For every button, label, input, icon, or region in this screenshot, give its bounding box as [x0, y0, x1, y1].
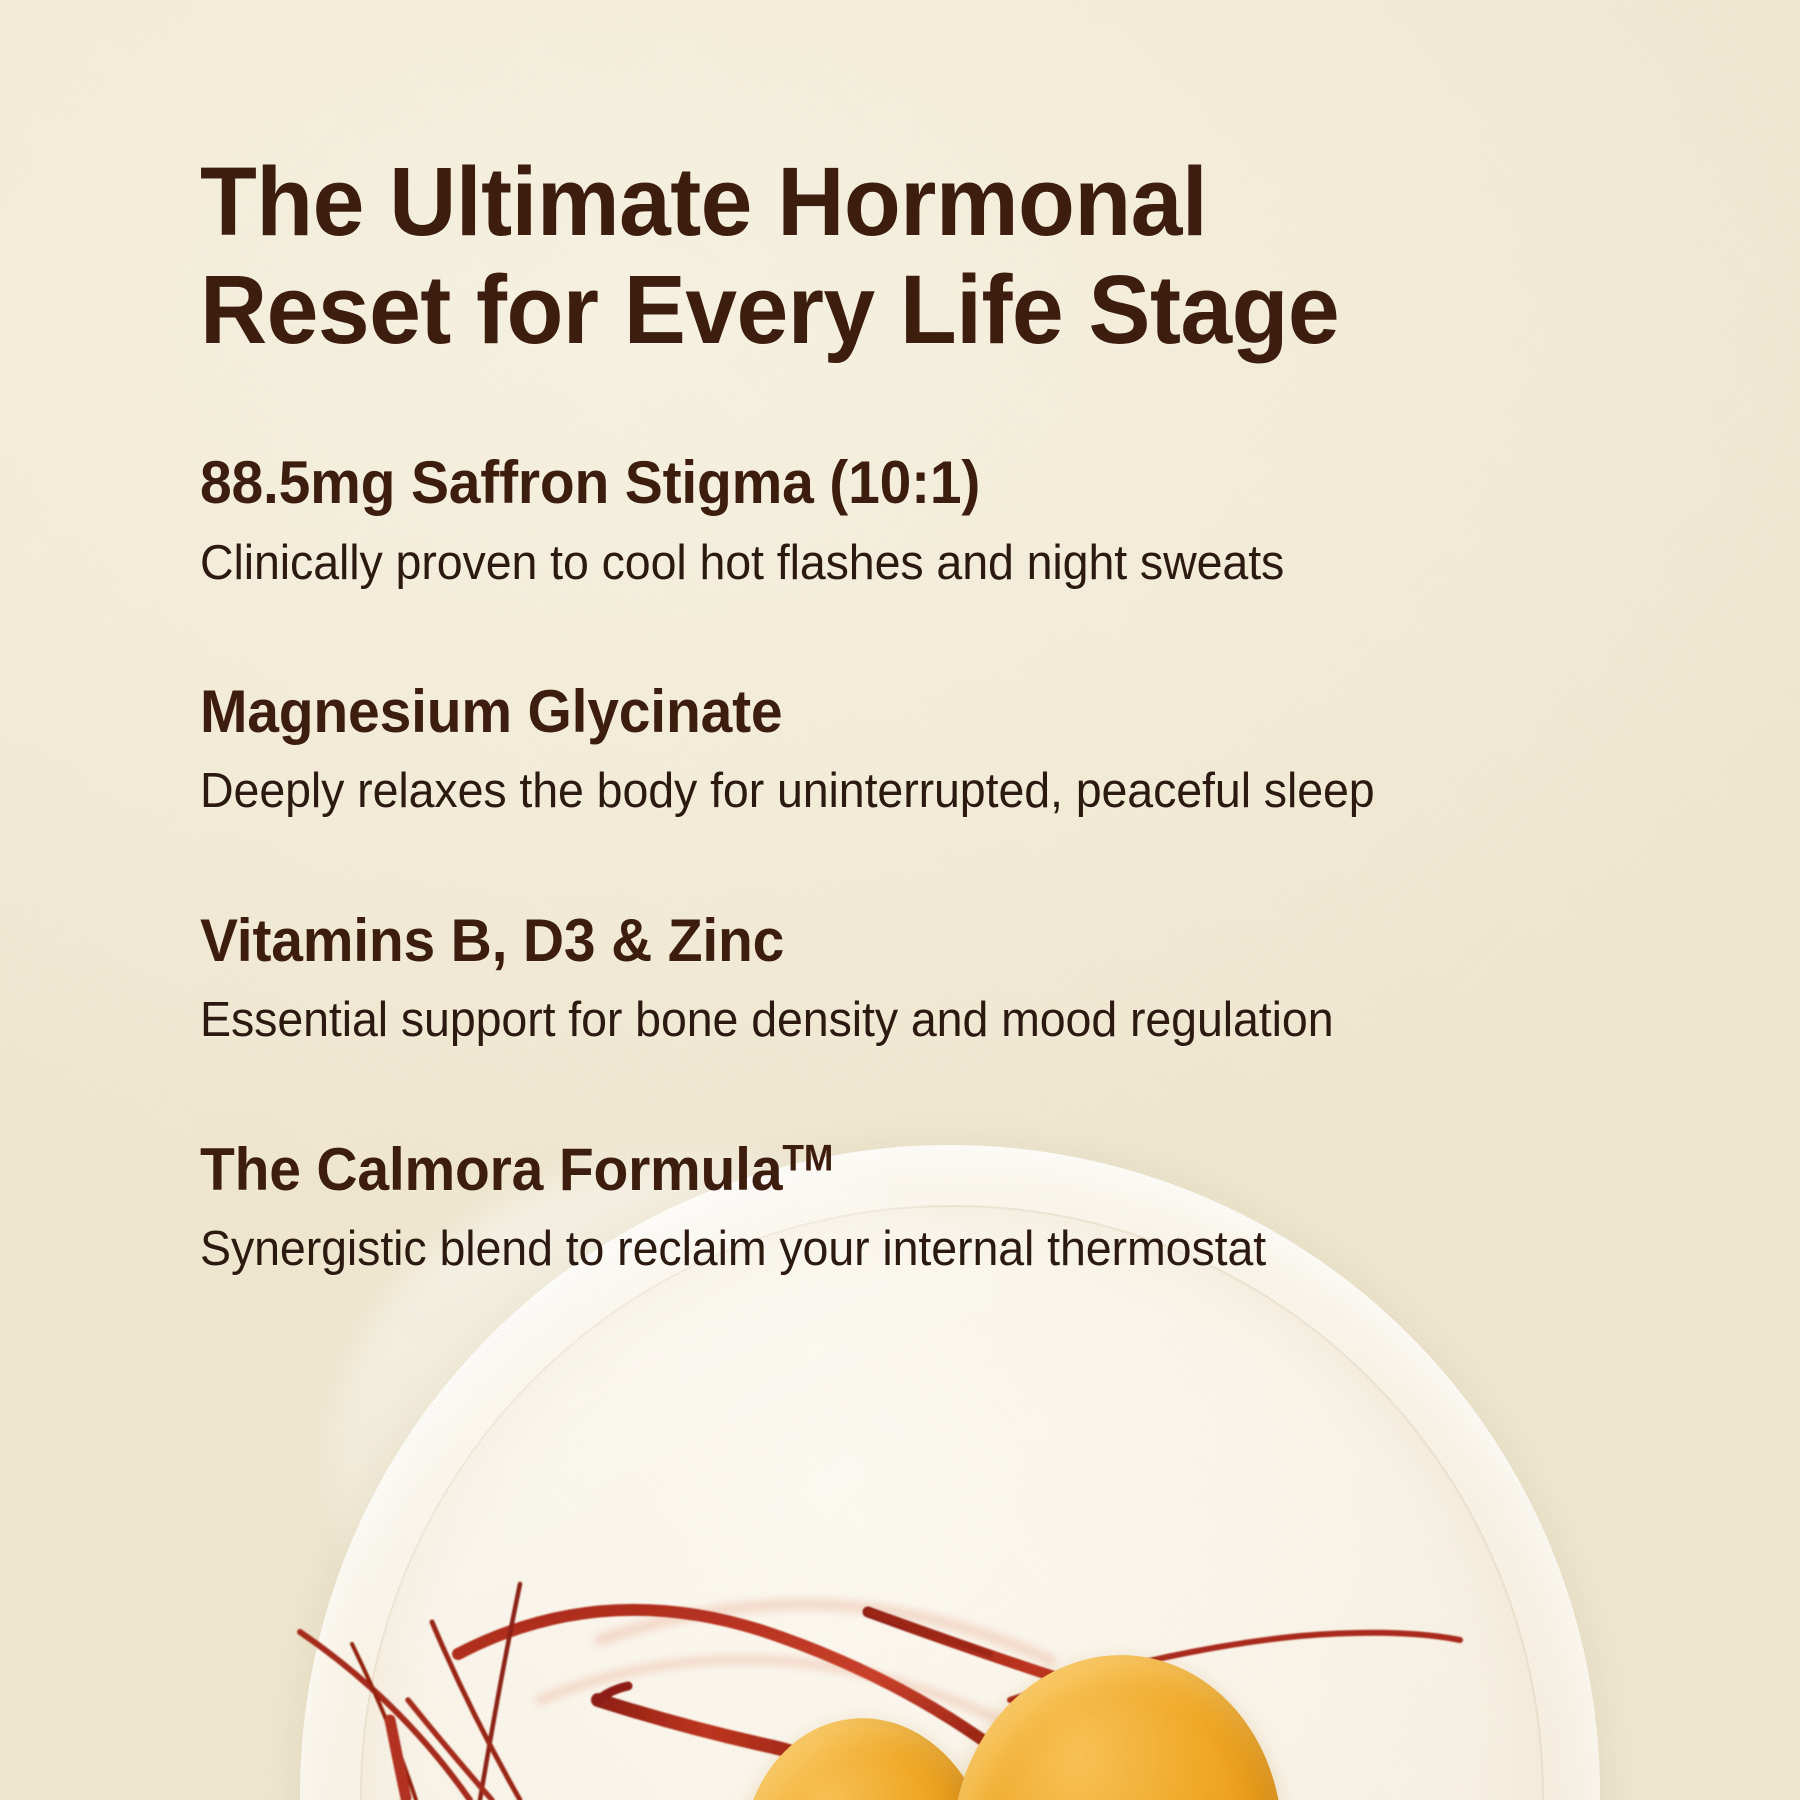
benefit-description: Essential support for bone density and m… — [200, 990, 1549, 1052]
benefit-title: Magnesium Glycinate — [200, 678, 1549, 745]
benefit-item-saffron: 88.5mg Saffron Stigma (10:1) Clinically … — [200, 449, 1620, 594]
benefit-description: Clinically proven to cool hot flashes an… — [200, 533, 1549, 595]
benefit-description: Synergistic blend to reclaim your intern… — [200, 1219, 1549, 1281]
benefit-list: 88.5mg Saffron Stigma (10:1) Clinically … — [200, 449, 1620, 1281]
product-benefits-poster: The Ultimate Hormonal Reset for Every Li… — [0, 0, 1800, 1800]
trademark-symbol: TM — [782, 1137, 833, 1179]
benefit-description: Deeply relaxes the body for uninterrupte… — [200, 761, 1549, 823]
benefit-title: 88.5mg Saffron Stigma (10:1) — [200, 449, 1549, 516]
benefit-item-vitamins: Vitamins B, D3 & Zinc Essential support … — [200, 907, 1620, 1052]
content-column: The Ultimate Hormonal Reset for Every Li… — [200, 148, 1620, 1281]
benefit-title-text: The Calmora Formula — [200, 1136, 782, 1203]
benefit-title: Vitamins B, D3 & Zinc — [200, 907, 1549, 974]
benefit-item-calmora: The Calmora FormulaTM Synergistic blend … — [200, 1136, 1620, 1281]
page-title: The Ultimate Hormonal Reset for Every Li… — [200, 148, 1563, 363]
benefit-title: The Calmora FormulaTM — [200, 1136, 1549, 1203]
benefit-item-magnesium: Magnesium Glycinate Deeply relaxes the b… — [200, 678, 1620, 823]
